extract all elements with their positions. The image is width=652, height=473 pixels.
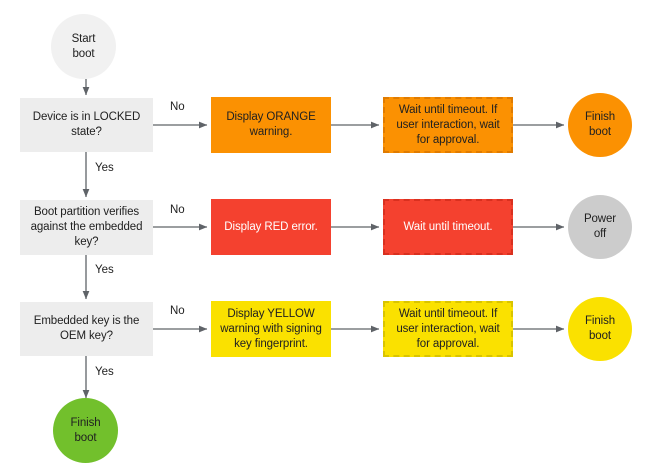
edge-label-yes-2: Yes bbox=[95, 264, 114, 276]
edge-label-no-2: No bbox=[170, 204, 185, 216]
node-finish-boot-orange[interactable]: Finish boot bbox=[568, 93, 632, 157]
node-decision-verify-label: Boot partition verifies against the embe… bbox=[25, 205, 149, 250]
node-finish-boot-yellow[interactable]: Finish boot bbox=[568, 297, 632, 361]
node-decision-oem[interactable]: Embedded key is the OEM key? bbox=[20, 302, 153, 356]
node-action-red[interactable]: Display RED error. bbox=[211, 199, 331, 255]
node-start-boot[interactable]: Start boot bbox=[51, 14, 116, 79]
node-action-red-label: Display RED error. bbox=[218, 220, 323, 235]
node-power-off[interactable]: Power off bbox=[568, 195, 632, 259]
node-power-off-label: Power off bbox=[578, 212, 622, 242]
edge-label-yes-1: Yes bbox=[95, 162, 114, 174]
node-action-yellow-label: Display YELLOW warning with signing key … bbox=[214, 307, 328, 352]
node-decision-oem-label: Embedded key is the OEM key? bbox=[28, 314, 146, 344]
node-decision-locked[interactable]: Device is in LOCKED state? bbox=[20, 98, 153, 152]
node-decision-locked-label: Device is in LOCKED state? bbox=[27, 110, 146, 140]
node-wait-yellow-label: Wait until timeout. If user interaction,… bbox=[390, 307, 505, 352]
node-start-boot-label: Start boot bbox=[66, 32, 102, 62]
edge-label-no-1: No bbox=[170, 101, 185, 113]
node-action-orange[interactable]: Display ORANGE warning. bbox=[211, 97, 331, 153]
node-finish-boot-orange-label: Finish boot bbox=[579, 110, 621, 140]
node-action-yellow[interactable]: Display YELLOW warning with signing key … bbox=[211, 301, 331, 357]
node-finish-boot-green[interactable]: Finish boot bbox=[53, 398, 118, 463]
node-action-orange-label: Display ORANGE warning. bbox=[220, 110, 321, 140]
edge-label-yes-3: Yes bbox=[95, 366, 114, 378]
node-decision-verify[interactable]: Boot partition verifies against the embe… bbox=[20, 200, 153, 255]
node-wait-orange[interactable]: Wait until timeout. If user interaction,… bbox=[383, 97, 513, 153]
node-wait-yellow[interactable]: Wait until timeout. If user interaction,… bbox=[383, 301, 513, 357]
flowchart-canvas: Start boot Device is in LOCKED state? Di… bbox=[0, 0, 652, 473]
node-wait-red[interactable]: Wait until timeout. bbox=[383, 199, 513, 255]
node-wait-orange-label: Wait until timeout. If user interaction,… bbox=[390, 103, 505, 148]
node-finish-boot-yellow-label: Finish boot bbox=[579, 314, 621, 344]
node-finish-boot-green-label: Finish boot bbox=[64, 416, 106, 446]
edge-label-no-3: No bbox=[170, 305, 185, 317]
node-wait-red-label: Wait until timeout. bbox=[397, 220, 498, 235]
